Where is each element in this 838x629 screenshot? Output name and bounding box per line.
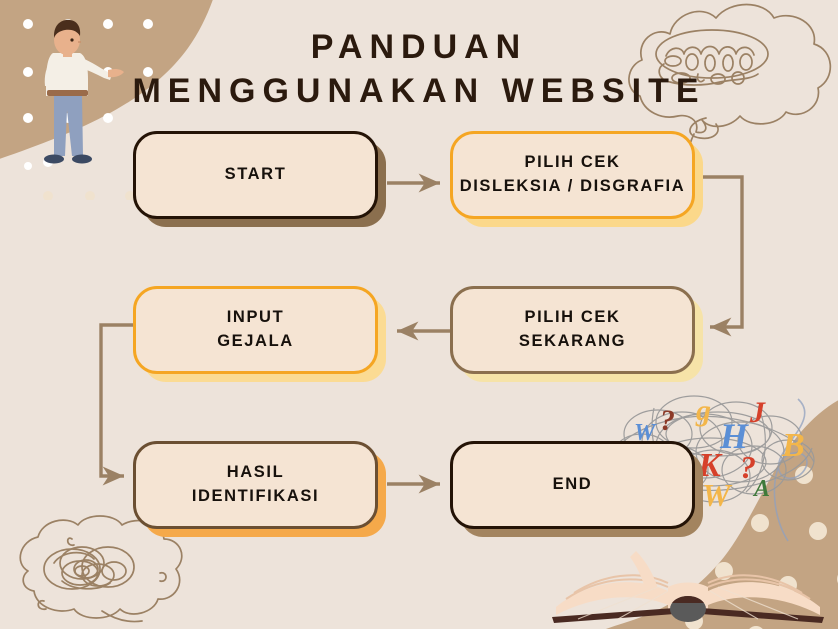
flow-node-input-gejala[interactable]: INPUT GEJALA [133, 286, 378, 374]
connector-pilih-cek-tipe-to-pilih-cek-sekarang [700, 177, 742, 327]
flow-node-pilih-cek-tipe[interactable]: PILIH CEK DISLEKSIA / DISGRAFIA [450, 131, 695, 219]
page-title: PANDUAN MENGGUNAKAN WEBSITE [0, 26, 838, 113]
svg-text:J: J [749, 396, 766, 429]
svg-text:K: K [697, 447, 723, 484]
svg-text:?: ? [740, 449, 756, 485]
slide-canvas: W ? g J H B K ? W A PANDUAN MENGGUNAKAN … [0, 0, 838, 629]
flow-node-input-gejala-label: INPUT GEJALA [217, 306, 294, 354]
flow-node-pilih-cek-sekarang-label: PILIH CEK SEKARANG [519, 306, 626, 354]
page-title-line-2: MENGGUNAKAN WEBSITE [0, 70, 838, 114]
svg-text:H: H [719, 416, 749, 456]
connector-input-gejala-to-hasil-identifikasi [101, 325, 137, 476]
svg-text:W: W [702, 477, 733, 513]
svg-text:g: g [695, 394, 711, 427]
svg-text:A: A [752, 476, 770, 502]
flow-node-start-label: START [225, 163, 287, 187]
flow-node-pilih-cek-sekarang[interactable]: PILIH CEK SEKARANG [450, 286, 695, 374]
svg-text:?: ? [660, 404, 675, 437]
svg-text:B: B [781, 427, 805, 464]
flow-node-end[interactable]: END [450, 441, 695, 529]
thought-cloud-bottom-left [10, 513, 225, 629]
flow-node-end-label: END [553, 473, 593, 497]
page-title-line-1: PANDUAN [0, 26, 838, 70]
flow-node-pilih-cek-tipe-label: PILIH CEK DISLEKSIA / DISGRAFIA [460, 151, 686, 199]
flow-node-start[interactable]: START [133, 131, 378, 219]
flow-node-hasil-identifikasi-label: HASIL IDENTIFIKASI [192, 461, 319, 509]
flow-node-hasil-identifikasi[interactable]: HASIL IDENTIFIKASI [133, 441, 378, 529]
